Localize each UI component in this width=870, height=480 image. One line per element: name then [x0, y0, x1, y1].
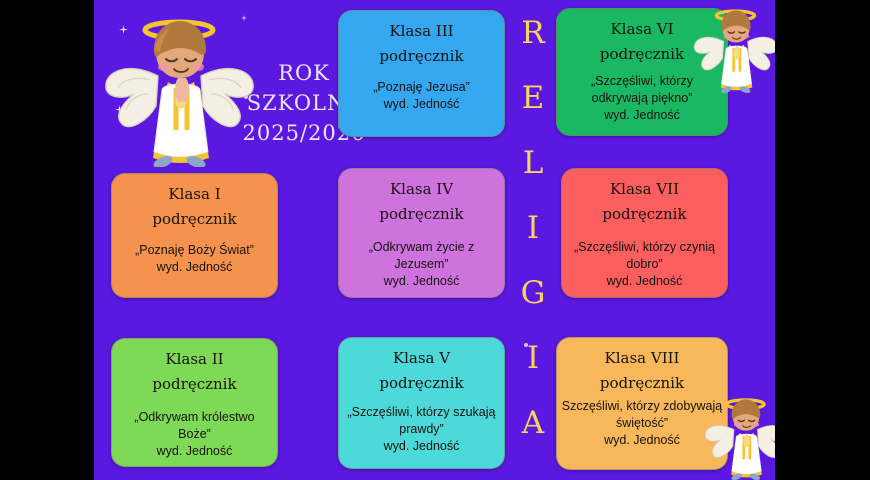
card-klasa-8[interactable]: Klasa VIII podręcznik Szczęśliwi, którzy… [556, 337, 728, 470]
religia-letter-5: I [527, 343, 539, 374]
sparkle-icon [119, 25, 128, 34]
card-subtitle: podręcznik [602, 202, 686, 227]
card-subtitle: podręcznik [600, 42, 684, 67]
card-publisher: wyd. Jedność [384, 438, 460, 455]
religia-letter-3: I [527, 213, 539, 244]
card-publisher: wyd. Jedność [384, 96, 460, 113]
card-klasa-7[interactable]: Klasa VII podręcznik „Szczęśliwi, którzy… [561, 168, 728, 298]
card-klasa-6[interactable]: Klasa VI podręcznik „Szczęśliwi, którzy … [556, 8, 728, 136]
religia-letter-1: E [522, 83, 545, 114]
card-klasa-2[interactable]: Klasa II podręcznik „Odkrywam królestwo … [111, 338, 278, 467]
card-klasa-4[interactable]: Klasa IV podręcznik „Odkrywam życie z Je… [338, 168, 505, 298]
card-body: „Szczęśliwi, którzy czynią dobro” [570, 239, 719, 273]
card-klasa-5[interactable]: Klasa V podręcznik „Szczęśliwi, którzy s… [338, 337, 505, 469]
card-publisher: wyd. Jedność [384, 273, 460, 290]
card-subtitle: podręcznik [600, 371, 684, 396]
religia-letter-4: G [521, 278, 546, 309]
religia-vertical-title: R E L I G I A [505, 0, 561, 480]
card-subtitle: podręcznik [379, 371, 463, 396]
card-title: Klasa II [165, 347, 223, 372]
card-klasa-3[interactable]: Klasa III podręcznik „Poznaję Jezusa” wy… [338, 10, 505, 137]
card-subtitle: podręcznik [152, 207, 236, 232]
religia-letter-2: L [523, 148, 544, 179]
card-publisher: wyd. Jedność [604, 432, 680, 449]
card-title: Klasa VIII [605, 346, 680, 371]
card-publisher: wyd. Jedność [157, 443, 233, 460]
card-subtitle: podręcznik [379, 44, 463, 69]
card-title: Klasa VII [610, 177, 679, 202]
card-publisher: wyd. Jedność [157, 259, 233, 276]
card-title: Klasa VI [610, 17, 673, 42]
card-body: „Odkrywam życie z Jezusem” [347, 239, 496, 273]
card-body: „Szczęśliwi, którzy odkrywają piękno” [562, 73, 722, 107]
sparkle-icon [115, 105, 124, 114]
card-body: „Poznaję Jezusa” [373, 79, 470, 96]
card-title: Klasa III [389, 19, 453, 44]
card-body: „Poznaję Boży Świat” [135, 242, 254, 259]
card-klasa-1[interactable]: Klasa I podręcznik „Poznaję Boży Świat” … [111, 173, 278, 298]
poster-canvas: ROK SZKOLNY 2025/2026 R E L I G I A Klas… [94, 0, 775, 480]
card-publisher: wyd. Jedność [607, 273, 683, 290]
card-subtitle: podręcznik [152, 372, 236, 397]
sparkle-icon [759, 430, 763, 434]
card-title: Klasa V [393, 346, 450, 371]
card-publisher: wyd. Jedność [604, 107, 680, 124]
card-title: Klasa IV [390, 177, 453, 202]
card-body: „Odkrywam królestwo Boże” [120, 409, 269, 443]
screenshot-stage: ROK SZKOLNY 2025/2026 R E L I G I A Klas… [0, 0, 870, 480]
card-body: Szczęśliwi, którzy zdobywają świętość” [561, 398, 723, 432]
card-subtitle: podręcznik [379, 202, 463, 227]
sparkle-icon [241, 15, 247, 21]
card-title: Klasa I [168, 182, 220, 207]
religia-letter-6: A [522, 408, 544, 439]
religia-letter-0: R [521, 18, 544, 49]
card-body: „Szczęśliwi, którzy szukają prawdy” [347, 404, 497, 438]
